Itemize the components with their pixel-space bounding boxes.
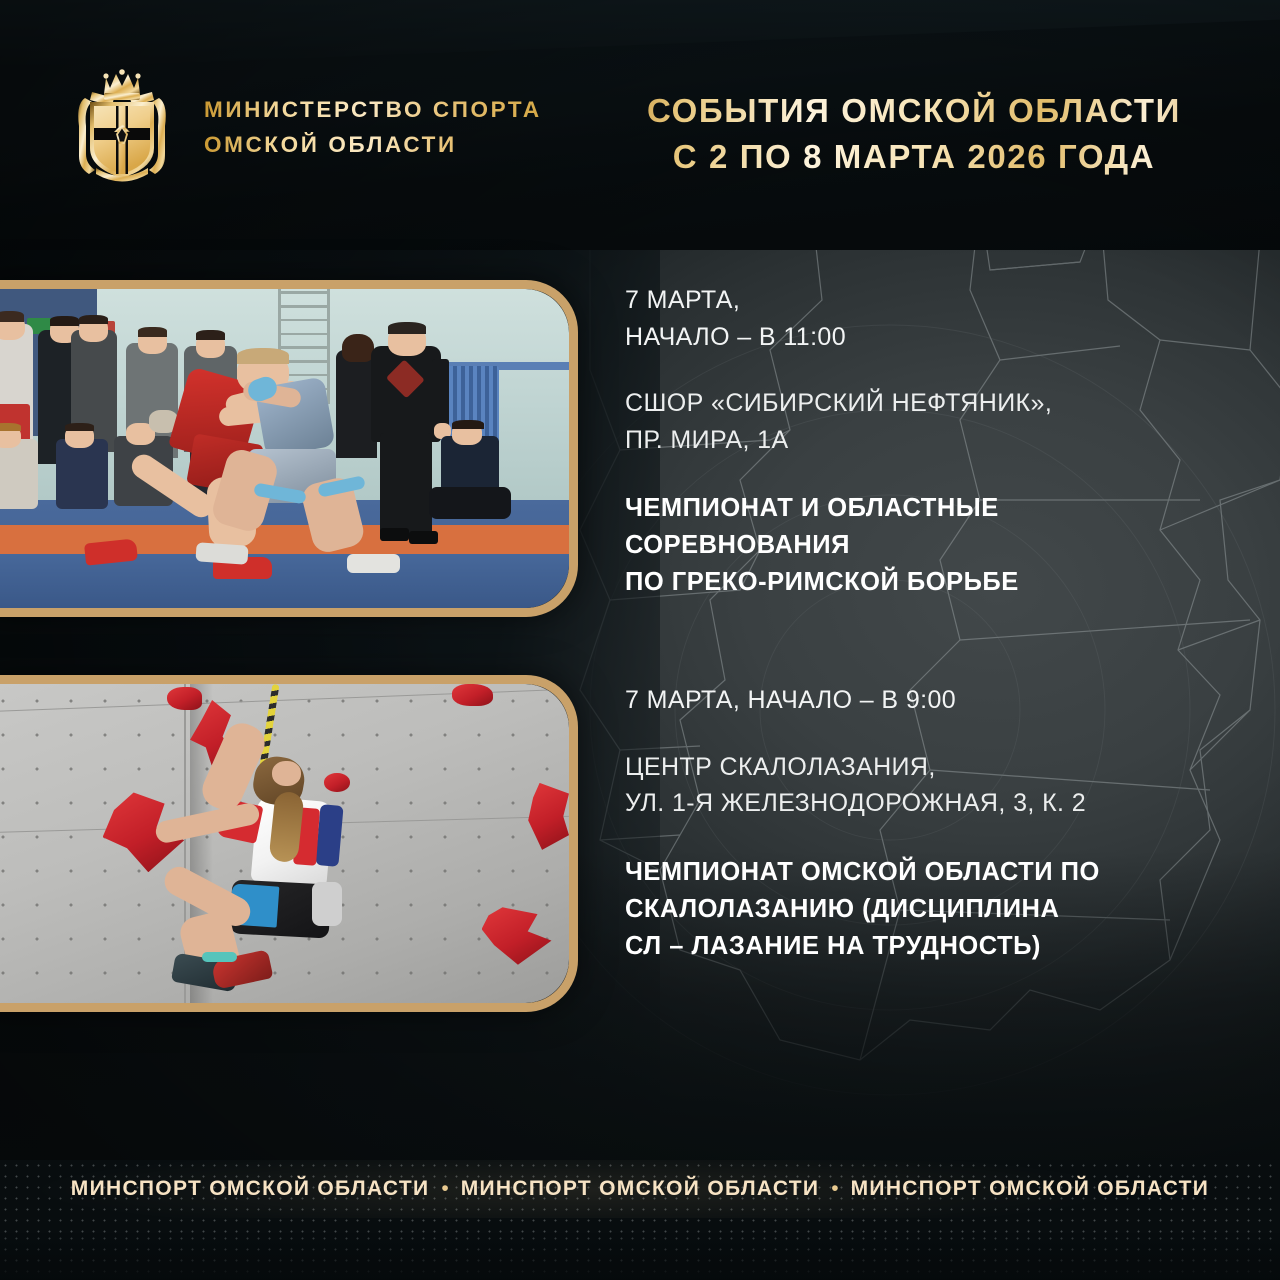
event-2-date: 7 МАРТА, НАЧАЛО – В 9:00 <box>625 682 1225 719</box>
event-2-title: ЧЕМПИОНАТ ОМСКОЙ ОБЛАСТИ ПО СКАЛОЛАЗАНИЮ… <box>625 854 1225 966</box>
footer-ticker: МИНСПОРТ ОМСКОЙ ОБЛАСТИ•МИНСПОРТ ОМСКОЙ … <box>0 1160 1280 1218</box>
title-line-1: СОБЫТИЯ ОМСКОЙ ОБЛАСТИ <box>594 88 1234 134</box>
event-1-title-line-3: ПО ГРЕКО-РИМСКОЙ БОРЬБЕ <box>625 564 1225 601</box>
event-2-title-line-1: ЧЕМПИОНАТ ОМСКОЙ ОБЛАСТИ ПО <box>625 854 1225 891</box>
footer-ticker-item: МИНСПОРТ ОМСКОЙ ОБЛАСТИ <box>461 1177 820 1201</box>
header: МИНИСТЕРСТВО СПОРТА ОМСКОЙ ОБЛАСТИ СОБЫТ… <box>0 0 1280 250</box>
footer: МИНСПОРТ ОМСКОЙ ОБЛАСТИ•МИНСПОРТ ОМСКОЙ … <box>0 1160 1280 1280</box>
event-photo-wrestling <box>0 280 578 617</box>
event-1-when: 7 МАРТА, НАЧАЛО – В 11:00 <box>625 282 1225 355</box>
page-title: СОБЫТИЯ ОМСКОЙ ОБЛАСТИ С 2 ПО 8 МАРТА 20… <box>594 88 1234 179</box>
event-2-title-line-3: СЛ – ЛАЗАНИЕ НА ТРУДНОСТЬ) <box>625 928 1225 965</box>
brand-lockup: МИНИСТЕРСТВО СПОРТА ОМСКОЙ ОБЛАСТИ <box>62 64 542 186</box>
event-1-address: ПР. МИРА, 1А <box>625 422 1225 459</box>
event-2-location: ЦЕНТР СКАЛОЛАЗАНИЯ, УЛ. 1-Я ЖЕЛЕЗНОДОРОЖ… <box>625 749 1225 822</box>
event-2-address: УЛ. 1-Я ЖЕЛЕЗНОДОРОЖНАЯ, 3, К. 2 <box>625 785 1225 822</box>
footer-bullet-separator-icon: • <box>819 1177 850 1201</box>
event-1-title-line-2: СОРЕВНОВАНИЯ <box>625 527 1225 564</box>
poster-canvas: МИНИСТЕРСТВО СПОРТА ОМСКОЙ ОБЛАСТИ СОБЫТ… <box>0 0 1280 1280</box>
footer-bullet-separator-icon: • <box>429 1177 460 1201</box>
brand-text: МИНИСТЕРСТВО СПОРТА ОМСКОЙ ОБЛАСТИ <box>204 93 542 158</box>
event-2-venue: ЦЕНТР СКАЛОЛАЗАНИЯ, <box>625 749 1225 786</box>
event-2-title-line-2: СКАЛОЛАЗАНИЮ (ДИСЦИПЛИНА <box>625 891 1225 928</box>
event-1-venue: СШОР «СИБИРСКИЙ НЕФТЯНИК», <box>625 385 1225 422</box>
footer-ticker-item: МИНСПОРТ ОМСКОЙ ОБЛАСТИ <box>71 1177 430 1201</box>
title-line-2: С 2 ПО 8 МАРТА 2026 ГОДА <box>594 134 1234 180</box>
brand-line-2: ОМСКОЙ ОБЛАСТИ <box>204 132 542 158</box>
event-1-time: НАЧАЛО – В 11:00 <box>625 319 1225 356</box>
brand-line-1: МИНИСТЕРСТВО СПОРТА <box>204 97 542 123</box>
event-2-when: 7 МАРТА, НАЧАЛО – В 9:00 <box>625 682 1225 719</box>
omsk-coat-of-arms-icon <box>62 64 182 186</box>
event-1-date: 7 МАРТА, <box>625 282 1225 319</box>
footer-gold-bar <box>0 1218 1280 1233</box>
footer-ticker-item: МИНСПОРТ ОМСКОЙ ОБЛАСТИ <box>851 1177 1210 1201</box>
event-block-1: 7 МАРТА, НАЧАЛО – В 11:00 СШОР «СИБИРСКИ… <box>625 282 1225 602</box>
event-photo-climbing <box>0 675 578 1012</box>
event-1-location: СШОР «СИБИРСКИЙ НЕФТЯНИК», ПР. МИРА, 1А <box>625 385 1225 458</box>
event-1-title-line-1: ЧЕМПИОНАТ И ОБЛАСТНЫЕ <box>625 490 1225 527</box>
footer-bottom-fade <box>0 1233 1280 1280</box>
event-1-title: ЧЕМПИОНАТ И ОБЛАСТНЫЕ СОРЕВНОВАНИЯ ПО ГР… <box>625 490 1225 602</box>
event-block-2: 7 МАРТА, НАЧАЛО – В 9:00 ЦЕНТР СКАЛОЛАЗА… <box>625 682 1225 965</box>
